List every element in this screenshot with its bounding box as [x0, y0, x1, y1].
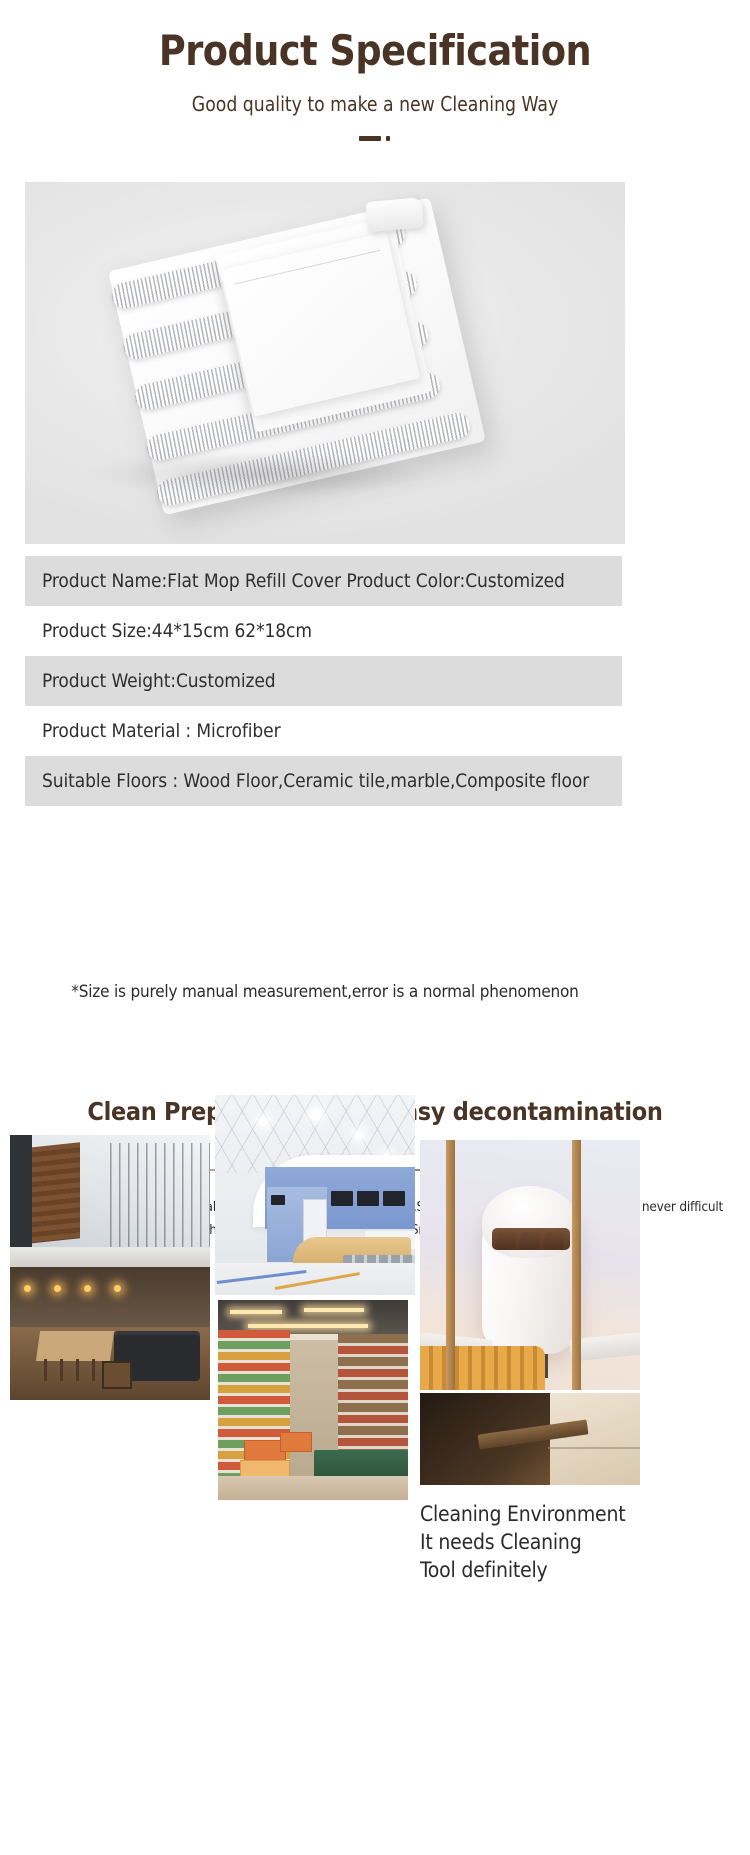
wall-monitor [383, 1191, 405, 1206]
collage-caption: Cleaning Environment It needs Cleaning T… [420, 1500, 740, 1584]
table-row: Product Size:44*15cm 62*18cm [25, 606, 622, 656]
airplane-nose-photo [420, 1140, 640, 1390]
strip-light [230, 1310, 282, 1314]
floor-seam [548, 1447, 640, 1449]
table-row: Product Name:Flat Mop Refill Cover Produ… [25, 556, 622, 606]
divider-dash [359, 136, 381, 141]
caption-line-3: Tool definitely [420, 1556, 740, 1584]
window-mullions [110, 1143, 210, 1255]
wall-monitor [357, 1191, 379, 1206]
ceiling [218, 1300, 408, 1334]
caption-line-2: It needs Cleaning [420, 1528, 740, 1556]
mop-pad-tab [365, 197, 423, 232]
measurement-note: *Size is purely manual measurement,error… [25, 982, 625, 1002]
table-row: Suitable Floors : Wood Floor,Ceramic til… [25, 756, 622, 806]
display-bin [280, 1432, 312, 1452]
lower-wall [10, 1267, 210, 1327]
caption-line-1: Cleaning Environment [420, 1500, 740, 1528]
specification-table: Product Name:Flat Mop Refill Cover Produ… [25, 556, 622, 806]
table-legs [44, 1359, 104, 1381]
cockpit-window [519, 1232, 541, 1249]
table-row: Product Weight:Customized [25, 656, 622, 706]
product-hero-image [25, 182, 625, 544]
lamp-glow [84, 1285, 91, 1292]
strip-light [304, 1308, 364, 1312]
wood-panel [28, 1142, 80, 1243]
hospital-reception-photo [215, 1095, 415, 1295]
wall-monitor [271, 1195, 285, 1205]
supermarket-aisle-photo [218, 1300, 408, 1500]
lamp-glow [54, 1285, 61, 1292]
jet-bridge [420, 1346, 545, 1390]
light-floor [550, 1393, 640, 1485]
ceiling-light [355, 1131, 363, 1139]
ceiling-light [311, 1109, 322, 1120]
dash-dot-divider-icon [355, 132, 395, 146]
divider-dot [386, 136, 390, 141]
support-pole [572, 1140, 581, 1390]
mop-pad-shadow [95, 452, 425, 496]
wall-monitor [331, 1191, 353, 1206]
wood-counter-photo [420, 1393, 640, 1485]
page-title: Product Specification [11, 28, 739, 74]
ceiling-light [259, 1117, 268, 1126]
ceiling-band [10, 1247, 210, 1269]
stool [102, 1361, 132, 1389]
table-row: Product Material : Microfiber [25, 706, 622, 756]
cockpit-window [495, 1232, 517, 1249]
dark-column [10, 1135, 32, 1255]
strip-light [248, 1324, 368, 1328]
product-shelf-right [338, 1334, 408, 1454]
support-pole [446, 1140, 455, 1390]
page-header: Product Specification Good quality to ma… [0, 0, 750, 146]
lamp-glow [24, 1285, 31, 1292]
lamp-glow [114, 1285, 121, 1292]
floor [218, 1476, 408, 1500]
dining-table [36, 1331, 114, 1361]
restaurant-interior-photo [10, 1135, 210, 1400]
cockpit-window [543, 1232, 565, 1249]
page-subtitle: Good quality to make a new Cleaning Way [15, 92, 735, 116]
